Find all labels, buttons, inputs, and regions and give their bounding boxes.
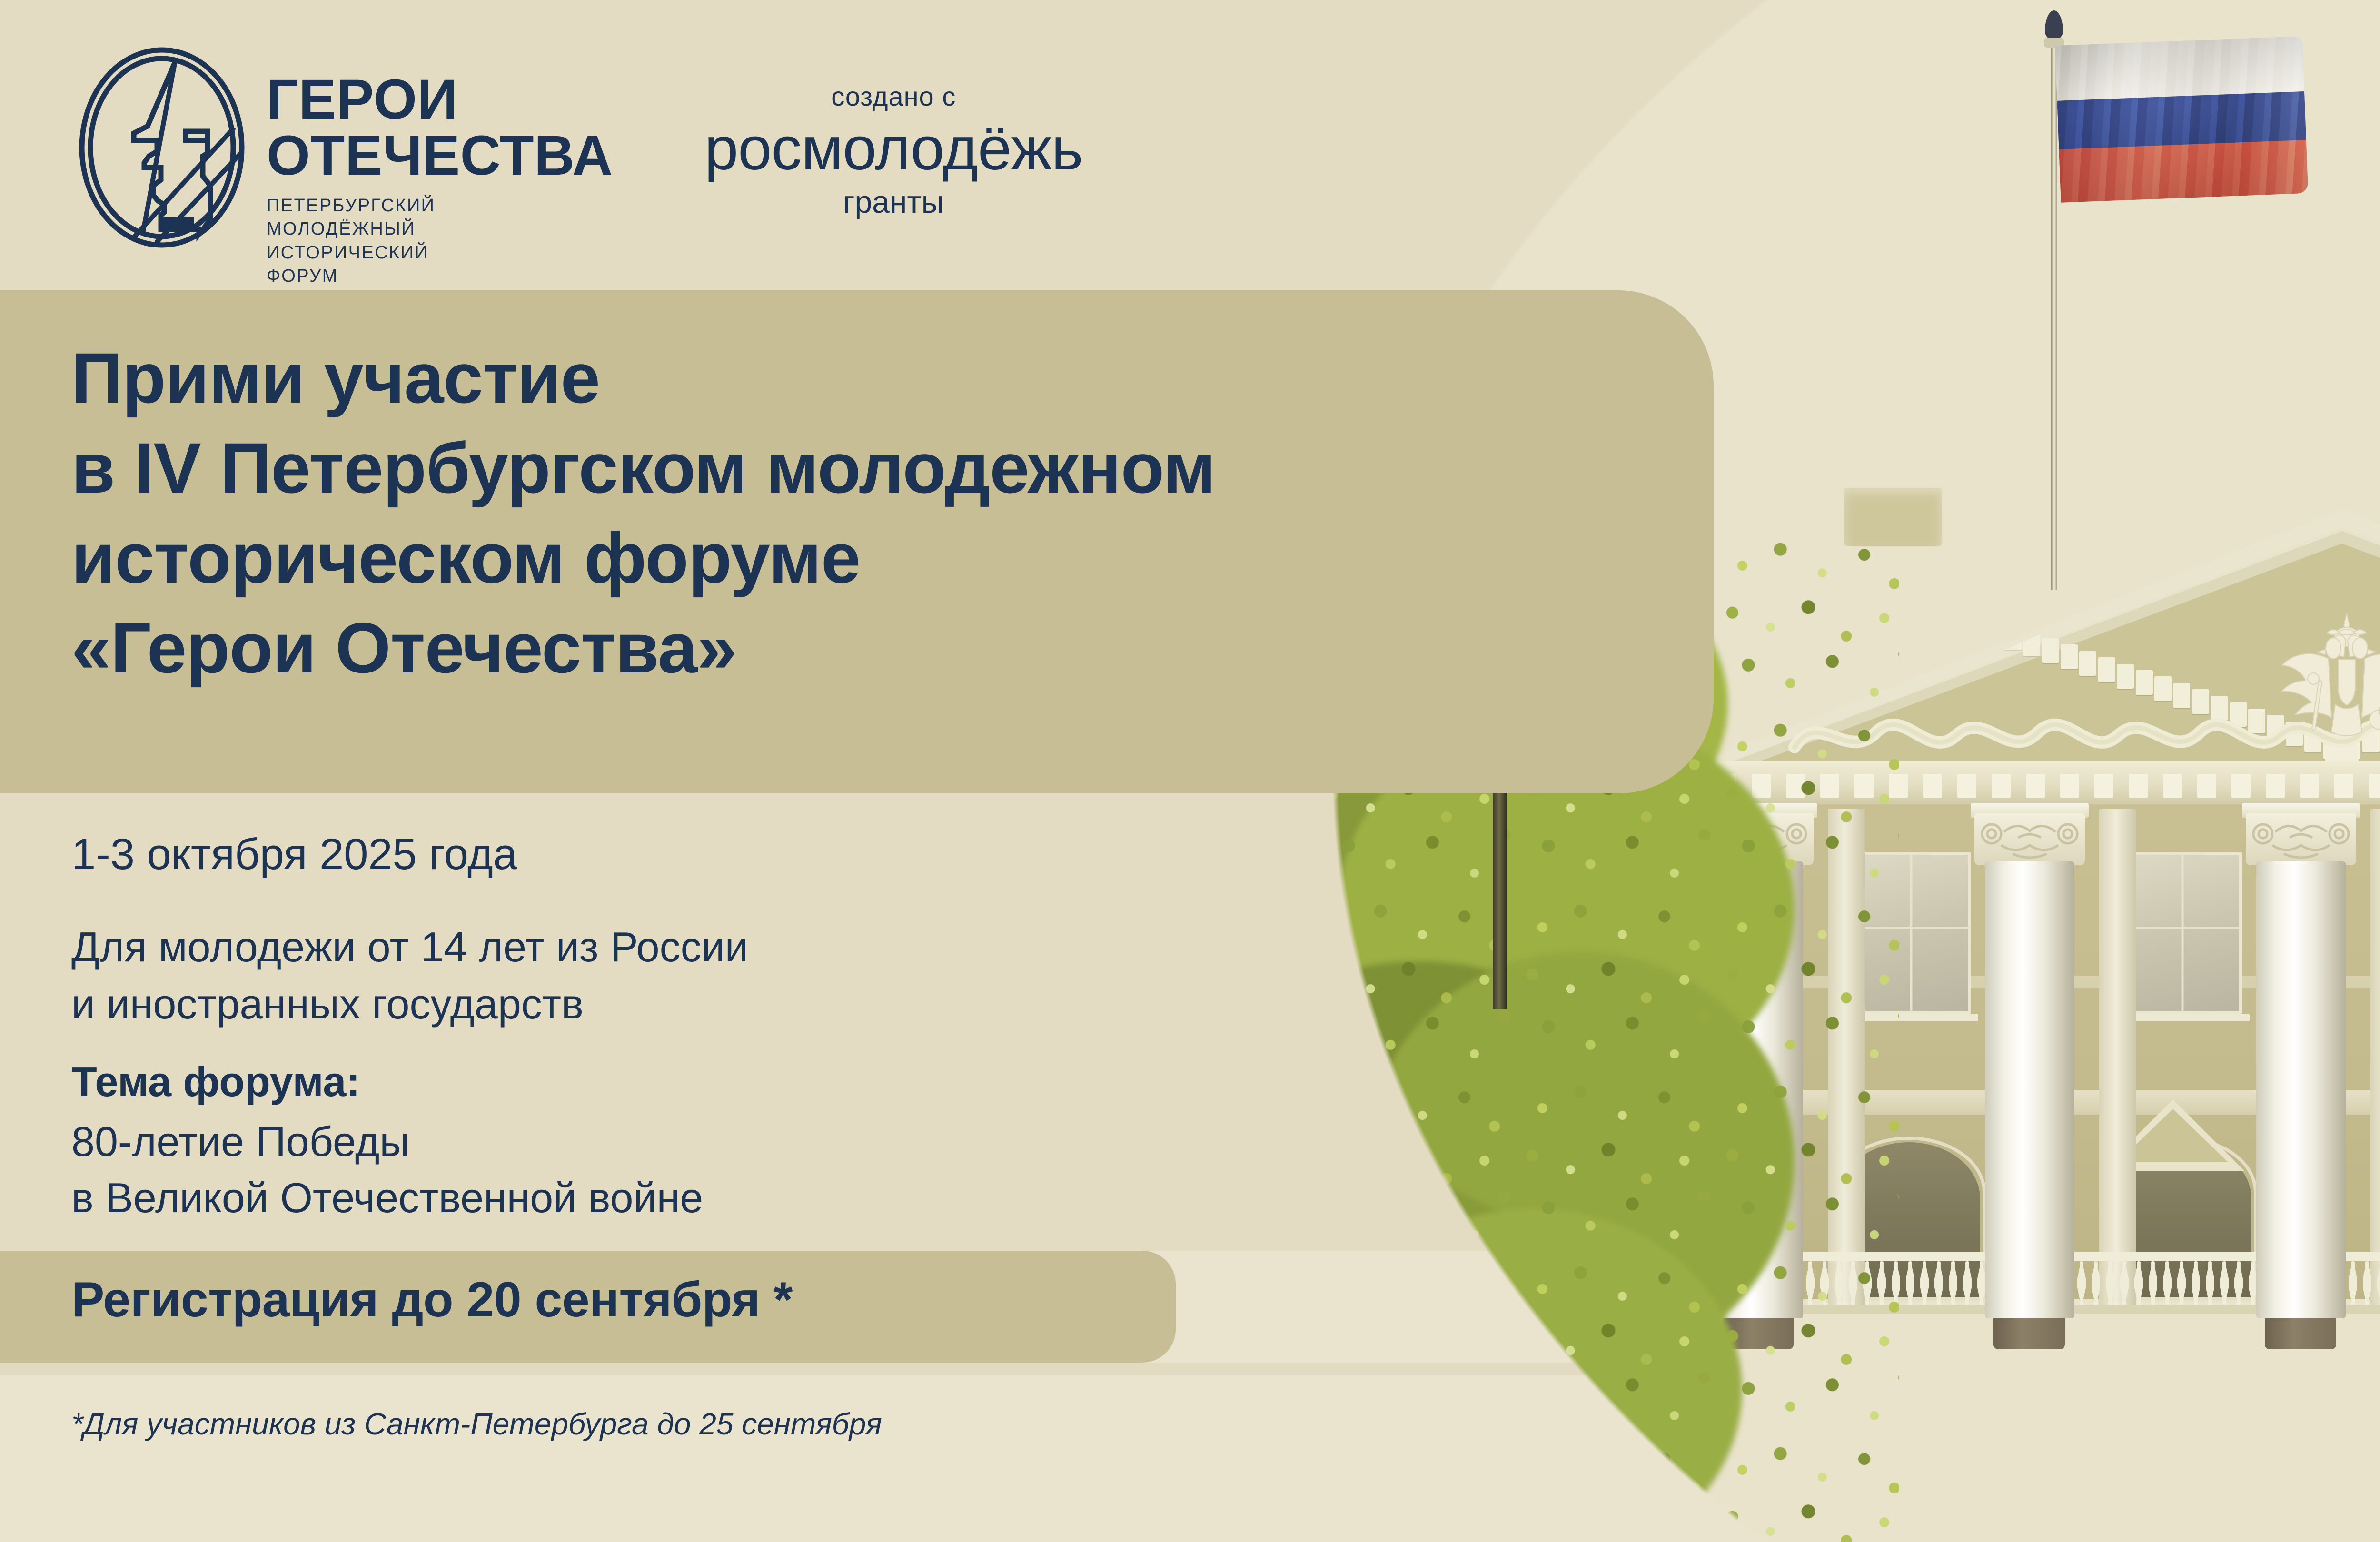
baluster <box>2349 1261 2357 1305</box>
dentil <box>1929 600 1946 624</box>
forum-theme-text: 80-летие Победы в Великой Отечественной … <box>71 1114 703 1226</box>
baluster <box>1920 1261 1929 1305</box>
forum-logo-subtitle-line3: ИСТОРИЧЕСКИЙ <box>267 241 613 265</box>
headline-line-4: «Герои Отечества» <box>71 603 1690 693</box>
baluster <box>1906 1261 1914 1305</box>
page-title: Прими участие в IV Петербургском молодеж… <box>71 333 1690 693</box>
column-capital-ornament <box>2246 813 2356 865</box>
poster-canvas: ГЕРОИ ОТЕЧЕСТВА ПЕТЕРБУРГСКИЙ МОЛОДЁЖНЫЙ… <box>0 0 2380 1542</box>
rosmolodezh-grants-logo[interactable]: создано с росмолодёжь гранты <box>704 81 1082 220</box>
dentil <box>2197 774 2216 798</box>
dentil <box>1948 606 1965 631</box>
rosmolodezh-grants-label: гранты <box>704 184 1082 220</box>
target-audience: Для молодежи от 14 лет из России и иност… <box>71 919 748 1032</box>
registration-footnote: *Для участников из Санкт-Петербурга до 2… <box>71 1406 882 1442</box>
forum-logo-subtitle-line2: МОЛОДЁЖНЫЙ <box>267 217 613 241</box>
event-dates: 1-3 октября 2025 года <box>71 828 517 880</box>
baluster <box>2206 1261 2214 1305</box>
dentil <box>2163 774 2182 798</box>
facade-column <box>2256 781 2346 1318</box>
soldier-profile-in-circle-emblem <box>71 43 252 252</box>
headline-line-2: в IV Петербургском молодежном <box>71 423 1690 513</box>
forum-logo-title-line2: ОТЕЧЕСТВА <box>267 128 613 184</box>
dentil <box>2129 774 2148 798</box>
dentil <box>2061 644 2078 669</box>
forum-logo[interactable]: ГЕРОИ ОТЕЧЕСТВА ПЕТЕРБУРГСКИЙ МОЛОДЁЖНЫЙ… <box>71 43 613 288</box>
dentil <box>2094 774 2113 798</box>
facade-pilaster <box>2099 809 2136 1309</box>
baluster <box>2149 1261 2157 1305</box>
baluster <box>2077 1261 2086 1305</box>
audience-line-2: и иностранных государств <box>71 976 748 1033</box>
baluster <box>1963 1261 1972 1305</box>
dentil <box>1911 593 1928 618</box>
baluster <box>2377 1261 2380 1305</box>
baluster <box>2106 1261 2114 1305</box>
dentil <box>2079 651 2096 676</box>
dentil <box>2369 774 2380 798</box>
dentil <box>1957 774 1976 798</box>
baluster <box>2363 1261 2371 1305</box>
registration-deadline: Регистрация до 20 сентября * <box>71 1272 793 1328</box>
rosmolodezh-wordmark: росмолодёжь <box>704 115 1082 183</box>
forum-logo-title-line1: ГЕРОИ <box>267 71 613 128</box>
headline-line-3: историческом форуме <box>71 513 1690 603</box>
baluster <box>2092 1261 2100 1305</box>
facade-pilaster <box>2370 809 2380 1309</box>
column-shaft <box>2256 861 2346 1318</box>
russian-tricolor-flag <box>2055 36 2308 203</box>
dentil <box>2098 657 2115 682</box>
footnote-card <box>0 1375 1081 1542</box>
dentil <box>1923 774 1942 798</box>
column-capital-ornament <box>1974 813 2085 865</box>
column-shaft <box>1985 861 2074 1318</box>
flag-shading <box>2055 36 2308 203</box>
dentil <box>2117 664 2134 689</box>
baluster <box>2234 1261 2243 1305</box>
baluster <box>2192 1261 2200 1305</box>
baluster <box>2120 1261 2129 1305</box>
baluster <box>2220 1261 2229 1305</box>
baluster <box>1949 1261 1957 1305</box>
double-headed-eagle-relief <box>2266 609 2380 752</box>
forum-logo-subtitle-line4: ФОРУМ <box>267 265 613 288</box>
audience-line-1: Для молодежи от 14 лет из России <box>71 919 748 976</box>
headline-line-1: Прими участие <box>71 333 1690 423</box>
theme-line-2: в Великой Отечественной войне <box>71 1170 703 1226</box>
dentil <box>1986 619 2003 643</box>
baluster <box>2134 1261 2143 1305</box>
facade-window <box>2123 852 2242 1014</box>
baluster <box>2177 1261 2186 1305</box>
dentil <box>2042 638 2059 663</box>
dentil <box>2231 774 2251 798</box>
forum-logo-subtitle-line1: ПЕТЕРБУРГСКИЙ <box>267 194 613 217</box>
theme-line-1: 80-летие Победы <box>71 1114 703 1170</box>
dentil <box>1967 613 1984 637</box>
baluster <box>1934 1261 1943 1305</box>
forum-theme-label: Тема форума: <box>71 1057 360 1107</box>
baluster <box>2163 1261 2172 1305</box>
rosmolodezh-created-with-label: создано с <box>704 81 1082 112</box>
facade-column <box>1985 781 2074 1318</box>
